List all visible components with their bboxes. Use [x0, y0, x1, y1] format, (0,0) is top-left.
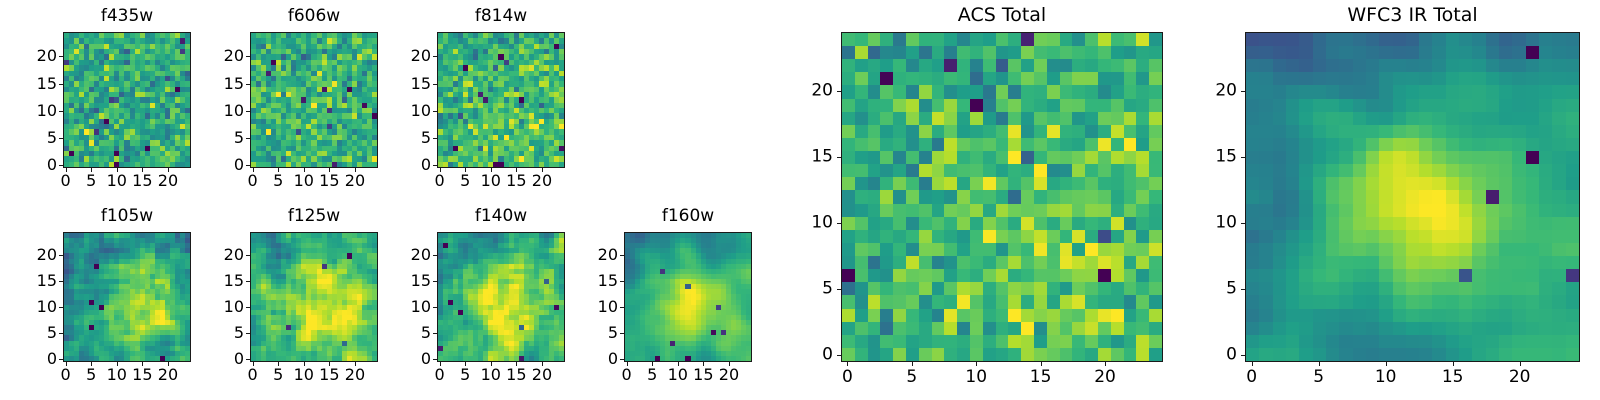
heatmap-f814w [437, 32, 565, 168]
xticklabel-f814w-0: 0 [434, 173, 444, 189]
ytick-f160w-0 [620, 359, 624, 360]
xticklabel-acs-total-10: 10 [965, 369, 987, 386]
xticklabel-f140w-5: 5 [460, 367, 470, 383]
yticklabel-f435w-15: 15 [37, 76, 57, 92]
ytick-f814w-20 [433, 56, 437, 57]
ytick-acs-total-5 [837, 289, 841, 290]
heatmap-cells-acs-total [842, 33, 1162, 361]
xtick-acs-total-10 [976, 362, 977, 366]
xticklabel-f606w-10: 10 [294, 173, 314, 189]
ytick-wfc3-ir-total-10 [1241, 223, 1245, 224]
xticklabel-f814w-5: 5 [460, 173, 470, 189]
ytick-f140w-0 [433, 359, 437, 360]
xtick-wfc3-ir-total-20 [1520, 362, 1521, 366]
xticklabel-f160w-15: 15 [693, 367, 713, 383]
panel-f105w: f105w0510152005101520 [63, 232, 191, 362]
yticklabel-f606w-20: 20 [224, 48, 244, 64]
xticklabel-f814w-20: 20 [532, 173, 552, 189]
yticklabel-f606w-15: 15 [224, 76, 244, 92]
yticklabel-f160w-20: 20 [598, 247, 618, 263]
yticklabel-f814w-10: 10 [411, 103, 431, 119]
panel-title-f435w: f435w [63, 8, 191, 25]
ytick-f606w-0 [246, 165, 250, 166]
ytick-wfc3-ir-total-5 [1241, 289, 1245, 290]
yticklabel-f160w-10: 10 [598, 299, 618, 315]
yticklabel-f606w-5: 5 [234, 130, 244, 146]
ytick-f606w-5 [246, 138, 250, 139]
yticklabel-f814w-15: 15 [411, 76, 431, 92]
ytick-f160w-15 [620, 281, 624, 282]
yticklabel-f435w-5: 5 [47, 130, 57, 146]
xticklabel-wfc3-ir-total-15: 15 [1442, 369, 1464, 386]
ytick-f105w-5 [59, 333, 63, 334]
ytick-f814w-10 [433, 111, 437, 112]
ytick-f435w-0 [59, 165, 63, 166]
ytick-f814w-5 [433, 138, 437, 139]
yticklabel-f125w-20: 20 [224, 247, 244, 263]
ytick-f814w-0 [433, 165, 437, 166]
yticklabel-f140w-0: 0 [421, 351, 431, 367]
xticklabel-acs-total-15: 15 [1030, 369, 1052, 386]
heatmap-cells-f125w [251, 233, 377, 361]
ytick-f814w-15 [433, 84, 437, 85]
ytick-f160w-5 [620, 333, 624, 334]
heatmap-cells-f105w [64, 233, 190, 361]
ytick-f606w-15 [246, 84, 250, 85]
ytick-f435w-5 [59, 138, 63, 139]
ytick-f105w-0 [59, 359, 63, 360]
xticklabel-f125w-15: 15 [319, 367, 339, 383]
heatmap-cells-wfc3-ir-total [1246, 33, 1579, 361]
ytick-f435w-10 [59, 111, 63, 112]
yticklabel-f140w-10: 10 [411, 299, 431, 315]
heatmap-f125w [250, 232, 378, 362]
yticklabel-f814w-20: 20 [411, 48, 431, 64]
xtick-acs-total-20 [1105, 362, 1106, 366]
yticklabel-f105w-10: 10 [37, 299, 57, 315]
xticklabel-f606w-20: 20 [345, 173, 365, 189]
heatmap-f160w [624, 232, 752, 362]
xticklabel-f140w-0: 0 [434, 367, 444, 383]
panel-f125w: f125w0510152005101520 [250, 232, 378, 362]
yticklabel-f435w-0: 0 [47, 157, 57, 173]
yticklabel-f435w-10: 10 [37, 103, 57, 119]
yticklabel-f125w-15: 15 [224, 273, 244, 289]
ytick-f160w-20 [620, 255, 624, 256]
heatmap-cells-f160w [625, 233, 751, 361]
yticklabel-f814w-5: 5 [421, 130, 431, 146]
heatmap-cells-f140w [438, 233, 564, 361]
xticklabel-f125w-0: 0 [247, 367, 257, 383]
heatmap-f435w [63, 32, 191, 168]
panel-f435w: f435w0510152005101520 [63, 32, 191, 168]
xticklabel-f160w-5: 5 [647, 367, 657, 383]
panel-title-acs-total: ACS Total [841, 6, 1163, 25]
xticklabel-f435w-5: 5 [86, 173, 96, 189]
yticklabel-f814w-0: 0 [421, 157, 431, 173]
yticklabel-wfc3-ir-total-0: 0 [1226, 347, 1237, 364]
xtick-wfc3-ir-total-5 [1319, 362, 1320, 366]
panel-title-f814w: f814w [437, 8, 565, 25]
ytick-wfc3-ir-total-20 [1241, 91, 1245, 92]
ytick-f125w-20 [246, 255, 250, 256]
heatmap-f606w [250, 32, 378, 168]
ytick-acs-total-15 [837, 157, 841, 158]
panel-title-f606w: f606w [250, 8, 378, 25]
ytick-f140w-10 [433, 307, 437, 308]
xticklabel-f125w-10: 10 [294, 367, 314, 383]
yticklabel-f105w-5: 5 [47, 325, 57, 341]
xtick-wfc3-ir-total-10 [1386, 362, 1387, 366]
ytick-f125w-0 [246, 359, 250, 360]
yticklabel-wfc3-ir-total-5: 5 [1226, 281, 1237, 298]
panel-f814w: f814w0510152005101520 [437, 32, 565, 168]
ytick-f105w-10 [59, 307, 63, 308]
yticklabel-f140w-20: 20 [411, 247, 431, 263]
yticklabel-acs-total-10: 10 [811, 215, 833, 232]
panel-title-f125w: f125w [250, 208, 378, 225]
heatmap-wfc3-ir-total [1245, 32, 1580, 362]
yticklabel-f160w-0: 0 [608, 351, 618, 367]
xticklabel-acs-total-20: 20 [1094, 369, 1116, 386]
yticklabel-f125w-10: 10 [224, 299, 244, 315]
xtick-wfc3-ir-total-15 [1453, 362, 1454, 366]
yticklabel-f140w-5: 5 [421, 325, 431, 341]
xticklabel-f160w-20: 20 [719, 367, 739, 383]
xticklabel-wfc3-ir-total-0: 0 [1246, 369, 1257, 386]
xticklabel-f105w-20: 20 [158, 367, 178, 383]
yticklabel-f140w-15: 15 [411, 273, 431, 289]
ytick-acs-total-10 [837, 223, 841, 224]
ytick-f435w-20 [59, 56, 63, 57]
yticklabel-f125w-0: 0 [234, 351, 244, 367]
xticklabel-f435w-10: 10 [107, 173, 127, 189]
xticklabel-wfc3-ir-total-20: 20 [1509, 369, 1531, 386]
ytick-f125w-5 [246, 333, 250, 334]
heatmap-f105w [63, 232, 191, 362]
yticklabel-f435w-20: 20 [37, 48, 57, 64]
yticklabel-f160w-5: 5 [608, 325, 618, 341]
xticklabel-f814w-15: 15 [506, 173, 526, 189]
xticklabel-f105w-10: 10 [107, 367, 127, 383]
ytick-f140w-20 [433, 255, 437, 256]
yticklabel-acs-total-20: 20 [811, 83, 833, 100]
xticklabel-f160w-0: 0 [621, 367, 631, 383]
yticklabel-acs-total-15: 15 [811, 149, 833, 166]
xticklabel-f140w-15: 15 [506, 367, 526, 383]
panel-f160w: f160w0510152005101520 [624, 232, 752, 362]
ytick-wfc3-ir-total-0 [1241, 355, 1245, 356]
yticklabel-f105w-15: 15 [37, 273, 57, 289]
xticklabel-acs-total-0: 0 [842, 369, 853, 386]
xtick-acs-total-5 [912, 362, 913, 366]
heatmap-cells-f814w [438, 33, 564, 167]
ytick-acs-total-0 [837, 355, 841, 356]
xticklabel-f105w-0: 0 [60, 367, 70, 383]
yticklabel-f606w-10: 10 [224, 103, 244, 119]
ytick-acs-total-20 [837, 91, 841, 92]
yticklabel-acs-total-5: 5 [822, 281, 833, 298]
panel-title-wfc3-ir-total: WFC3 IR Total [1245, 6, 1580, 25]
xticklabel-wfc3-ir-total-5: 5 [1313, 369, 1324, 386]
heatmap-cells-f435w [64, 33, 190, 167]
ytick-f140w-5 [433, 333, 437, 334]
ytick-f105w-15 [59, 281, 63, 282]
yticklabel-acs-total-0: 0 [822, 347, 833, 364]
ytick-f160w-10 [620, 307, 624, 308]
heatmap-cells-f606w [251, 33, 377, 167]
ytick-f125w-10 [246, 307, 250, 308]
ytick-f105w-20 [59, 255, 63, 256]
yticklabel-wfc3-ir-total-15: 15 [1215, 149, 1237, 166]
panel-wfc3-ir-total: WFC3 IR Total0510152005101520 [1245, 32, 1580, 362]
panel-f140w: f140w0510152005101520 [437, 232, 565, 362]
xticklabel-f606w-0: 0 [247, 173, 257, 189]
ytick-f125w-15 [246, 281, 250, 282]
xticklabel-f160w-10: 10 [668, 367, 688, 383]
heatmap-acs-total [841, 32, 1163, 362]
xticklabel-f606w-5: 5 [273, 173, 283, 189]
xticklabel-f606w-15: 15 [319, 173, 339, 189]
ytick-f606w-20 [246, 56, 250, 57]
heatmap-f140w [437, 232, 565, 362]
xtick-acs-total-15 [1041, 362, 1042, 366]
yticklabel-f160w-15: 15 [598, 273, 618, 289]
yticklabel-wfc3-ir-total-10: 10 [1215, 215, 1237, 232]
ytick-wfc3-ir-total-15 [1241, 157, 1245, 158]
xticklabel-f814w-10: 10 [481, 173, 501, 189]
panel-title-f160w: f160w [624, 208, 752, 225]
panel-title-f140w: f140w [437, 208, 565, 225]
xticklabel-f125w-20: 20 [345, 367, 365, 383]
yticklabel-f105w-0: 0 [47, 351, 57, 367]
xticklabel-f435w-0: 0 [60, 173, 70, 189]
ytick-f606w-10 [246, 111, 250, 112]
panel-acs-total: ACS Total0510152005101520 [841, 32, 1163, 362]
ytick-f435w-15 [59, 84, 63, 85]
xticklabel-f140w-10: 10 [481, 367, 501, 383]
xtick-wfc3-ir-total-0 [1252, 362, 1253, 366]
ytick-f140w-15 [433, 281, 437, 282]
xticklabel-wfc3-ir-total-10: 10 [1375, 369, 1397, 386]
xticklabel-acs-total-5: 5 [906, 369, 917, 386]
yticklabel-f125w-5: 5 [234, 325, 244, 341]
panel-title-f105w: f105w [63, 208, 191, 225]
xticklabel-f125w-5: 5 [273, 367, 283, 383]
yticklabel-wfc3-ir-total-20: 20 [1215, 83, 1237, 100]
xticklabel-f140w-20: 20 [532, 367, 552, 383]
yticklabel-f105w-20: 20 [37, 247, 57, 263]
panel-f606w: f606w0510152005101520 [250, 32, 378, 168]
figure-canvas: f435w0510152005101520f606w05101520051015… [0, 0, 1600, 400]
xticklabel-f105w-15: 15 [132, 367, 152, 383]
xtick-acs-total-0 [847, 362, 848, 366]
xticklabel-f435w-15: 15 [132, 173, 152, 189]
xticklabel-f435w-20: 20 [158, 173, 178, 189]
yticklabel-f606w-0: 0 [234, 157, 244, 173]
xticklabel-f105w-5: 5 [86, 367, 96, 383]
